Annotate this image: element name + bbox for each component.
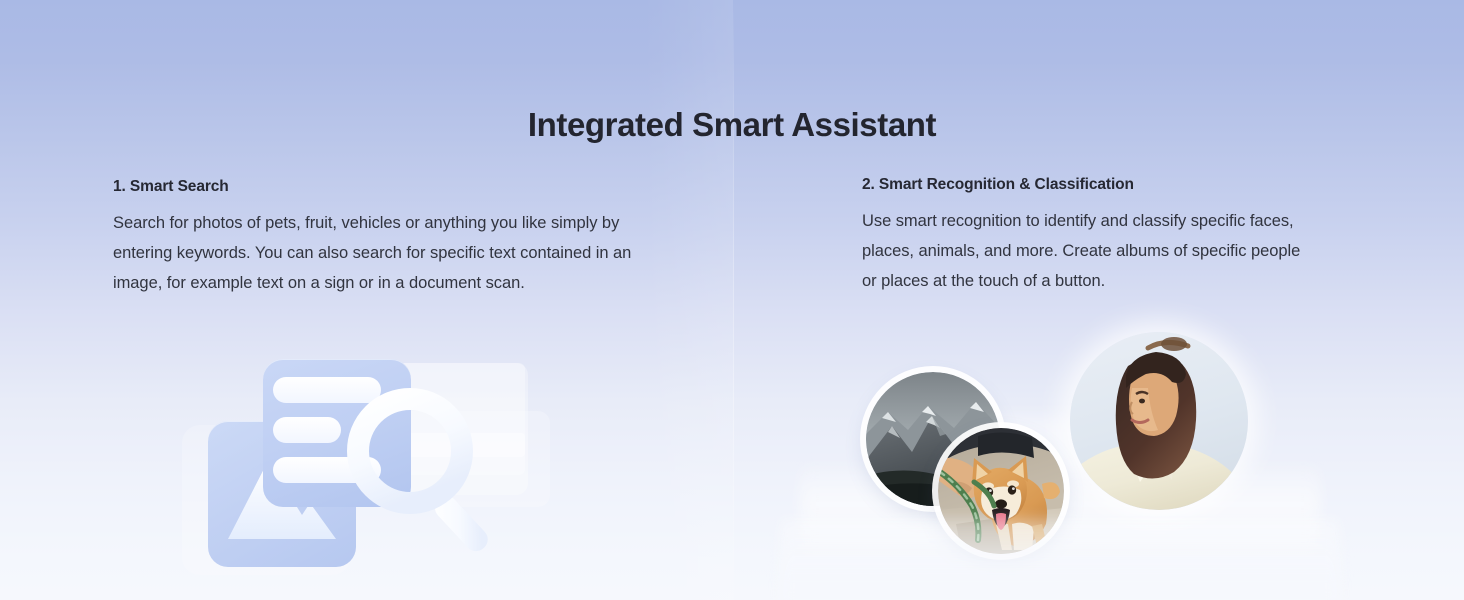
column-heading-smart-search: 1. Smart Search [113,178,229,196]
smart-recognition-illustration [840,330,1300,600]
column-body-smart-search: Search for photos of pets, fruit, vehicl… [113,208,633,298]
search-icon [346,387,506,563]
column-body-smart-recognition: Use smart recognition to identify and cl… [862,206,1310,296]
column-smart-search: 1. Smart Search Search for photos of pet… [0,0,733,600]
list-bar-2 [273,417,341,443]
smart-search-illustration [150,345,580,600]
column-heading-smart-recognition: 2. Smart Recognition & Classification [862,176,1134,194]
feature-banner: Integrated Smart Assistant 1. Smart Sear… [0,0,1464,600]
woman-portrait-photo [1070,332,1248,510]
woman-portrait-art [1070,332,1248,510]
photo-bottom-fade [780,518,1340,600]
